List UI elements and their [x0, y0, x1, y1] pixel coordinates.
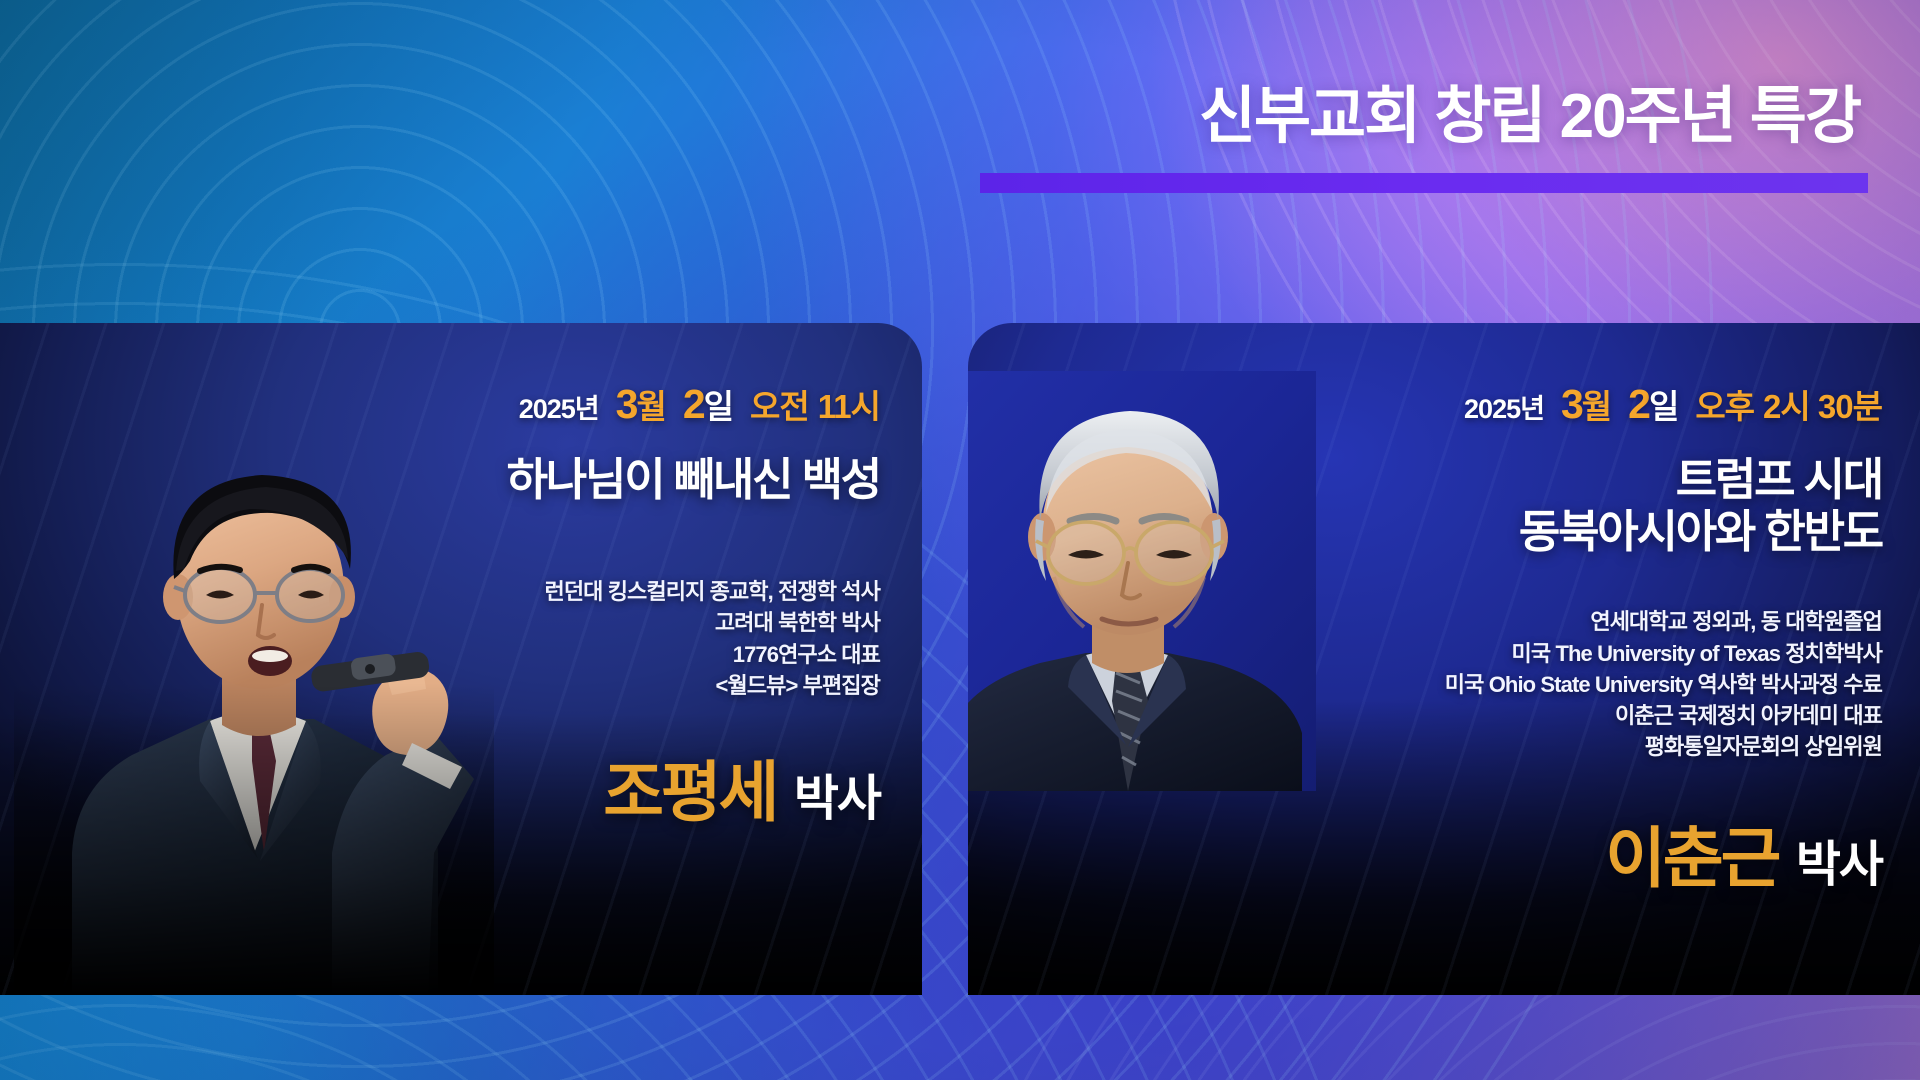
date-time: 2시 30분	[1763, 380, 1882, 428]
speaker-credentials-right: 연세대학교 정외과, 동 대학원졸업 미국 The University of …	[1162, 606, 1882, 762]
session-card-right: 2025년 3 월 2 일 오후 2시 30분 트럼프 시대 동북아시아와 한반…	[968, 323, 1920, 995]
title-underline-bar	[980, 173, 1868, 193]
speaker-title: 박사	[1796, 838, 1882, 892]
lecture-title-line: 트럼프 시대	[1162, 454, 1882, 506]
date-ampm: 오후	[1695, 380, 1754, 428]
credential-line: 미국 The University of Texas 정치학박사	[1162, 638, 1882, 669]
speaker-name: 조평세	[603, 755, 776, 829]
page-title: 신부교회 창립 20주년 특강	[1199, 84, 1860, 149]
credential-line: 런던대 킹스컬리지 종교학, 전쟁학 석사	[320, 576, 880, 607]
speaker-name: 이춘근	[1605, 821, 1778, 895]
date-time: 11시	[818, 380, 880, 428]
speaker-title: 박사	[794, 772, 880, 826]
date-month: 3	[1561, 381, 1582, 428]
credential-line: 미국 Ohio State University 역사학 박사과정 수료	[1162, 669, 1882, 700]
date-month-unit: 월	[1582, 380, 1611, 428]
session-info-left: 2025년 3 월 2 일 오전 11시 하나님이 빼내신 백성 런던대 킹스컬…	[320, 380, 880, 835]
credential-line: <월드뷰> 부편집장	[320, 670, 880, 701]
speaker-name-block-left: 조평세 박사	[320, 739, 880, 835]
date-day-unit: 일	[704, 380, 733, 428]
lecture-title-line: 하나님이 빼내신 백성	[320, 454, 880, 506]
session-card-left: 2025년 3 월 2 일 오전 11시 하나님이 빼내신 백성 런던대 킹스컬…	[0, 323, 922, 995]
date-month-unit: 월	[636, 380, 665, 428]
date-ampm: 오전	[750, 380, 809, 428]
date-day: 2	[683, 381, 704, 428]
credential-line: 1776연구소 대표	[320, 639, 880, 670]
credential-line: 연세대학교 정외과, 동 대학원졸업	[1162, 606, 1882, 637]
poster-header: 신부교회 창립 20주년 특강	[0, 0, 1920, 240]
poster-stage: 신부교회 창립 20주년 특강	[0, 0, 1920, 1080]
lecture-title-left: 하나님이 빼내신 백성	[320, 454, 880, 506]
credential-line: 고려대 북한학 박사	[320, 607, 880, 638]
lecture-title-right: 트럼프 시대 동북아시아와 한반도	[1162, 454, 1882, 558]
speaker-name-block-right: 이춘근 박사	[1162, 805, 1882, 901]
session-date-left: 2025년 3 월 2 일 오전 11시	[320, 380, 880, 428]
date-year: 2025년	[1464, 387, 1544, 426]
date-day: 2	[1628, 381, 1649, 428]
lecture-title-line: 동북아시아와 한반도	[1162, 506, 1882, 558]
credential-line: 이춘근 국제정치 아카데미 대표	[1162, 700, 1882, 731]
session-date-right: 2025년 3 월 2 일 오후 2시 30분	[1162, 380, 1882, 428]
session-info-right: 2025년 3 월 2 일 오후 2시 30분 트럼프 시대 동북아시아와 한반…	[1162, 380, 1882, 901]
date-day-unit: 일	[1649, 380, 1678, 428]
date-year: 2025년	[519, 387, 599, 426]
speaker-credentials-left: 런던대 킹스컬리지 종교학, 전쟁학 석사 고려대 북한학 박사 1776연구소…	[320, 576, 880, 701]
credential-line: 평화통일자문회의 상임위원	[1162, 731, 1882, 762]
date-month: 3	[616, 381, 637, 428]
